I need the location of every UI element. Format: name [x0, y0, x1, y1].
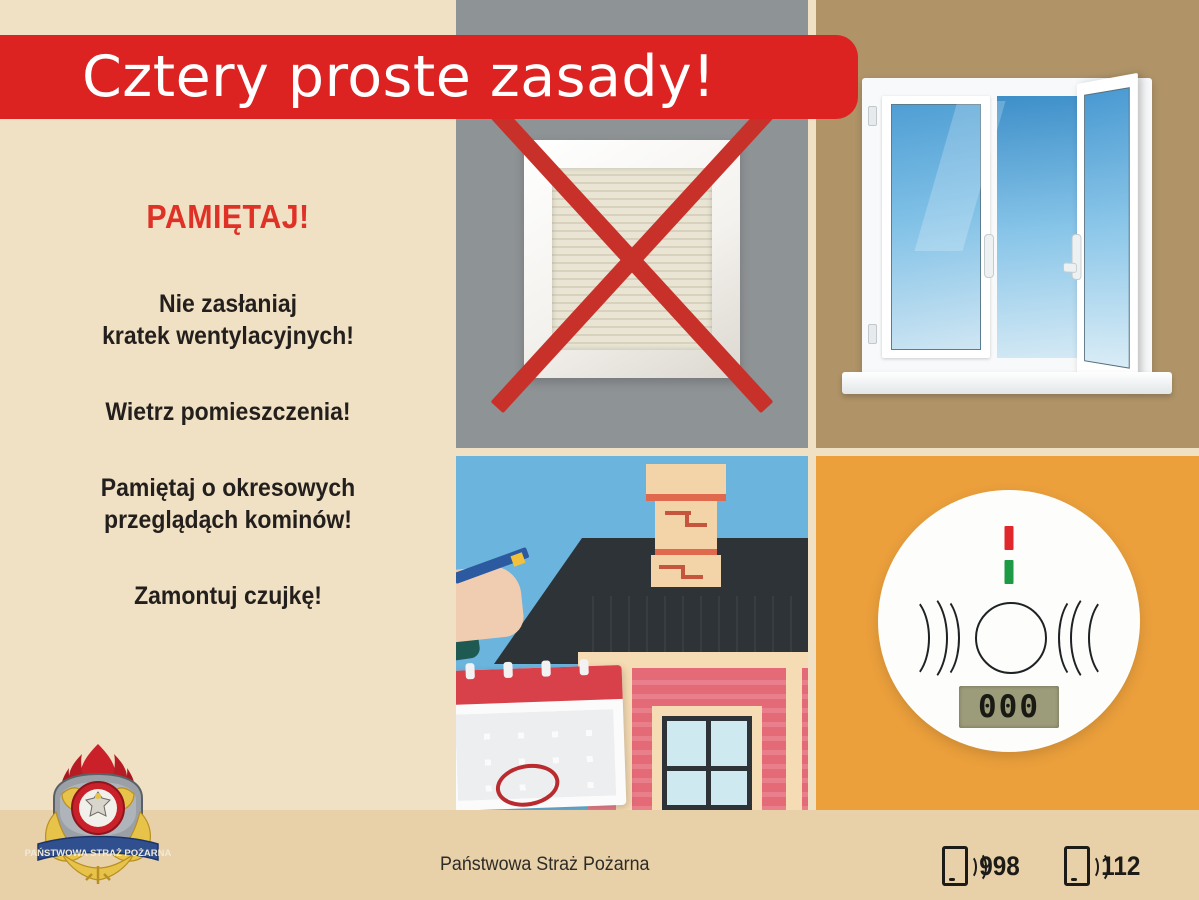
psp-emblem-icon: PAŃSTWOWA STRAŻ POŻARNA	[22, 738, 174, 890]
window-sill	[842, 372, 1172, 394]
window-sash-fixed	[882, 96, 990, 358]
panel-open-window	[816, 0, 1199, 448]
rule-line: Pamiętaj o okresowych	[18, 472, 438, 504]
rules-list: Nie zasłaniaj kratek wentylacyjnych! Wie…	[0, 288, 456, 612]
rule-line: kratek wentylacyjnych!	[18, 320, 438, 352]
panel-chimney-inspection	[456, 456, 808, 810]
organization-name: Państwowa Straż Pożarna	[440, 854, 649, 876]
image-grid: 000	[456, 0, 1199, 810]
page-title: Cztery proste zasady!	[82, 44, 716, 110]
window-hinge-bottom	[868, 324, 877, 344]
mobile-ring-icon	[942, 846, 968, 886]
window-handle-open	[1072, 234, 1082, 280]
rule-line: Wietrz pomieszczenia!	[18, 396, 438, 428]
poster-canvas: 000 Cztery proste zasady! PAMIĘTAJ! Nie …	[0, 0, 1199, 900]
chimney-icon	[646, 464, 726, 587]
rule-item: Wietrz pomieszczenia!	[18, 396, 438, 428]
sound-wave-left-3	[880, 594, 930, 682]
house-window-mullion-vertical	[706, 716, 711, 810]
rule-line: przeglądąch kominów!	[18, 504, 438, 536]
rule-item: Pamiętaj o okresowych przeglądąch kominó…	[18, 472, 438, 536]
mobile-ring-icon	[1064, 846, 1090, 886]
detector-sensor-circle	[975, 602, 1047, 674]
window-glass-fixed	[891, 104, 981, 350]
remember-heading: PAMIĘTAJ!	[18, 198, 438, 236]
footer-bar: Państwowa Straż Pożarna 998 112	[0, 810, 1199, 900]
window-frame	[862, 78, 1152, 378]
psp-logo: PAŃSTWOWA STRAŻ POŻARNA	[22, 738, 174, 890]
psp-ribbon-text: PAŃSTWOWA STRAŻ POŻARNA	[25, 848, 172, 859]
panel-smoke-detector: 000	[816, 456, 1199, 810]
house-pilaster-right	[786, 668, 802, 810]
window-hinge-top	[868, 106, 877, 126]
smoke-detector-icon: 000	[878, 490, 1140, 752]
emergency-number-112: 112	[1064, 846, 1143, 886]
window-glass-open	[1084, 87, 1130, 369]
emergency-numbers: 998 112	[942, 846, 1143, 886]
forbidden-cross-icon	[496, 110, 768, 410]
led-green-indicator	[1005, 560, 1014, 584]
message-column: PAMIĘTAJ! Nie zasłaniaj kratek wentylacy…	[0, 150, 456, 612]
emergency-number-998: 998	[942, 846, 1022, 886]
window-handle-fixed	[984, 234, 994, 278]
glass-reflection	[914, 101, 1005, 251]
title-banner: Cztery proste zasady!	[0, 35, 858, 119]
window-sash-open	[1077, 73, 1138, 385]
phone-number: 998	[980, 851, 1021, 882]
detector-lcd-display: 000	[959, 686, 1059, 728]
detector-lcd-value: 000	[978, 689, 1040, 725]
rule-item: Nie zasłaniaj kratek wentylacyjnych!	[18, 288, 438, 352]
rule-line: Nie zasłaniaj	[18, 288, 438, 320]
calendar-icon	[456, 665, 626, 810]
phone-number: 112	[1102, 851, 1141, 882]
rule-line: Zamontuj czujkę!	[18, 580, 438, 612]
sound-wave-right-3	[1088, 594, 1138, 682]
led-red-indicator	[1005, 526, 1014, 550]
house-window-mullion-horizontal	[662, 766, 752, 771]
rule-item: Zamontuj czujkę!	[18, 580, 438, 612]
roof-shingle-texture	[576, 596, 808, 656]
